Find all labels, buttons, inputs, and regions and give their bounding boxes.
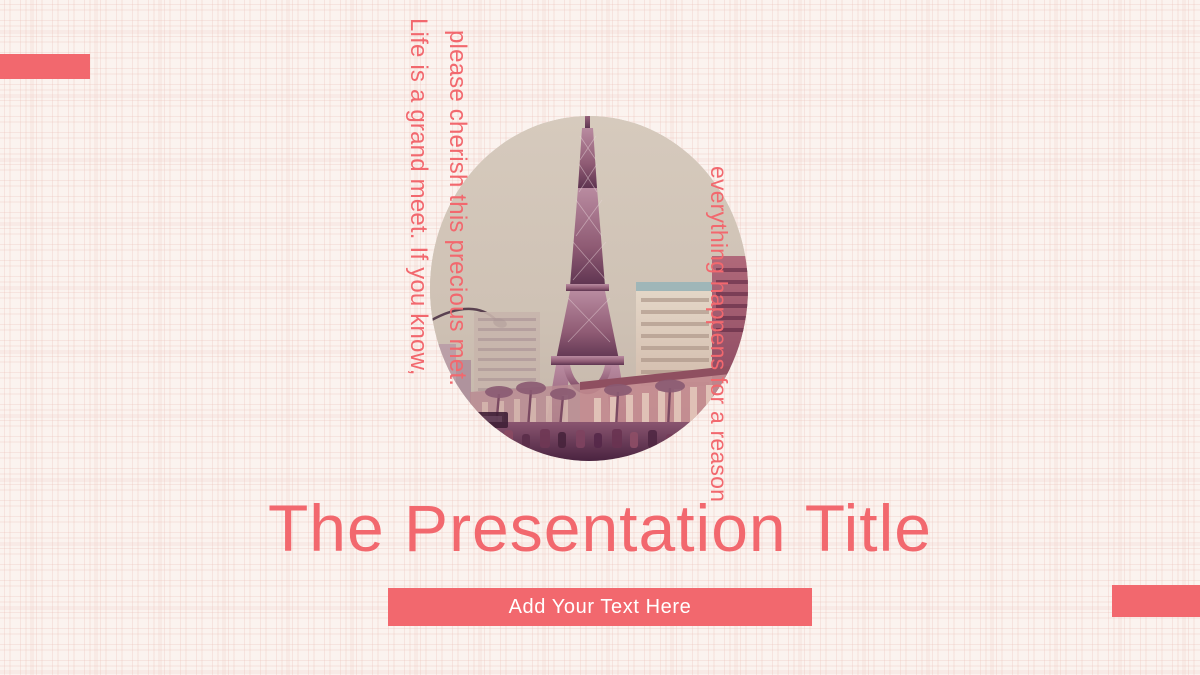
quote-right-vertical: everything happens for a reason (705, 166, 732, 502)
top-left-accent-bar (0, 54, 90, 79)
quote-line-1: Life is a grand meet. If you know, (404, 18, 432, 376)
eiffel-tower-photo-illustration (430, 116, 748, 461)
quote-line-2: please cherish this precious met. (443, 30, 471, 386)
circular-photo (430, 116, 748, 461)
page-title: The Presentation Title (0, 495, 1200, 561)
bottom-right-accent-bar (1112, 585, 1200, 617)
presentation-slide: Life is a grand meet. If you know, pleas… (0, 0, 1200, 675)
add-your-text-button[interactable]: Add Your Text Here (388, 588, 812, 626)
